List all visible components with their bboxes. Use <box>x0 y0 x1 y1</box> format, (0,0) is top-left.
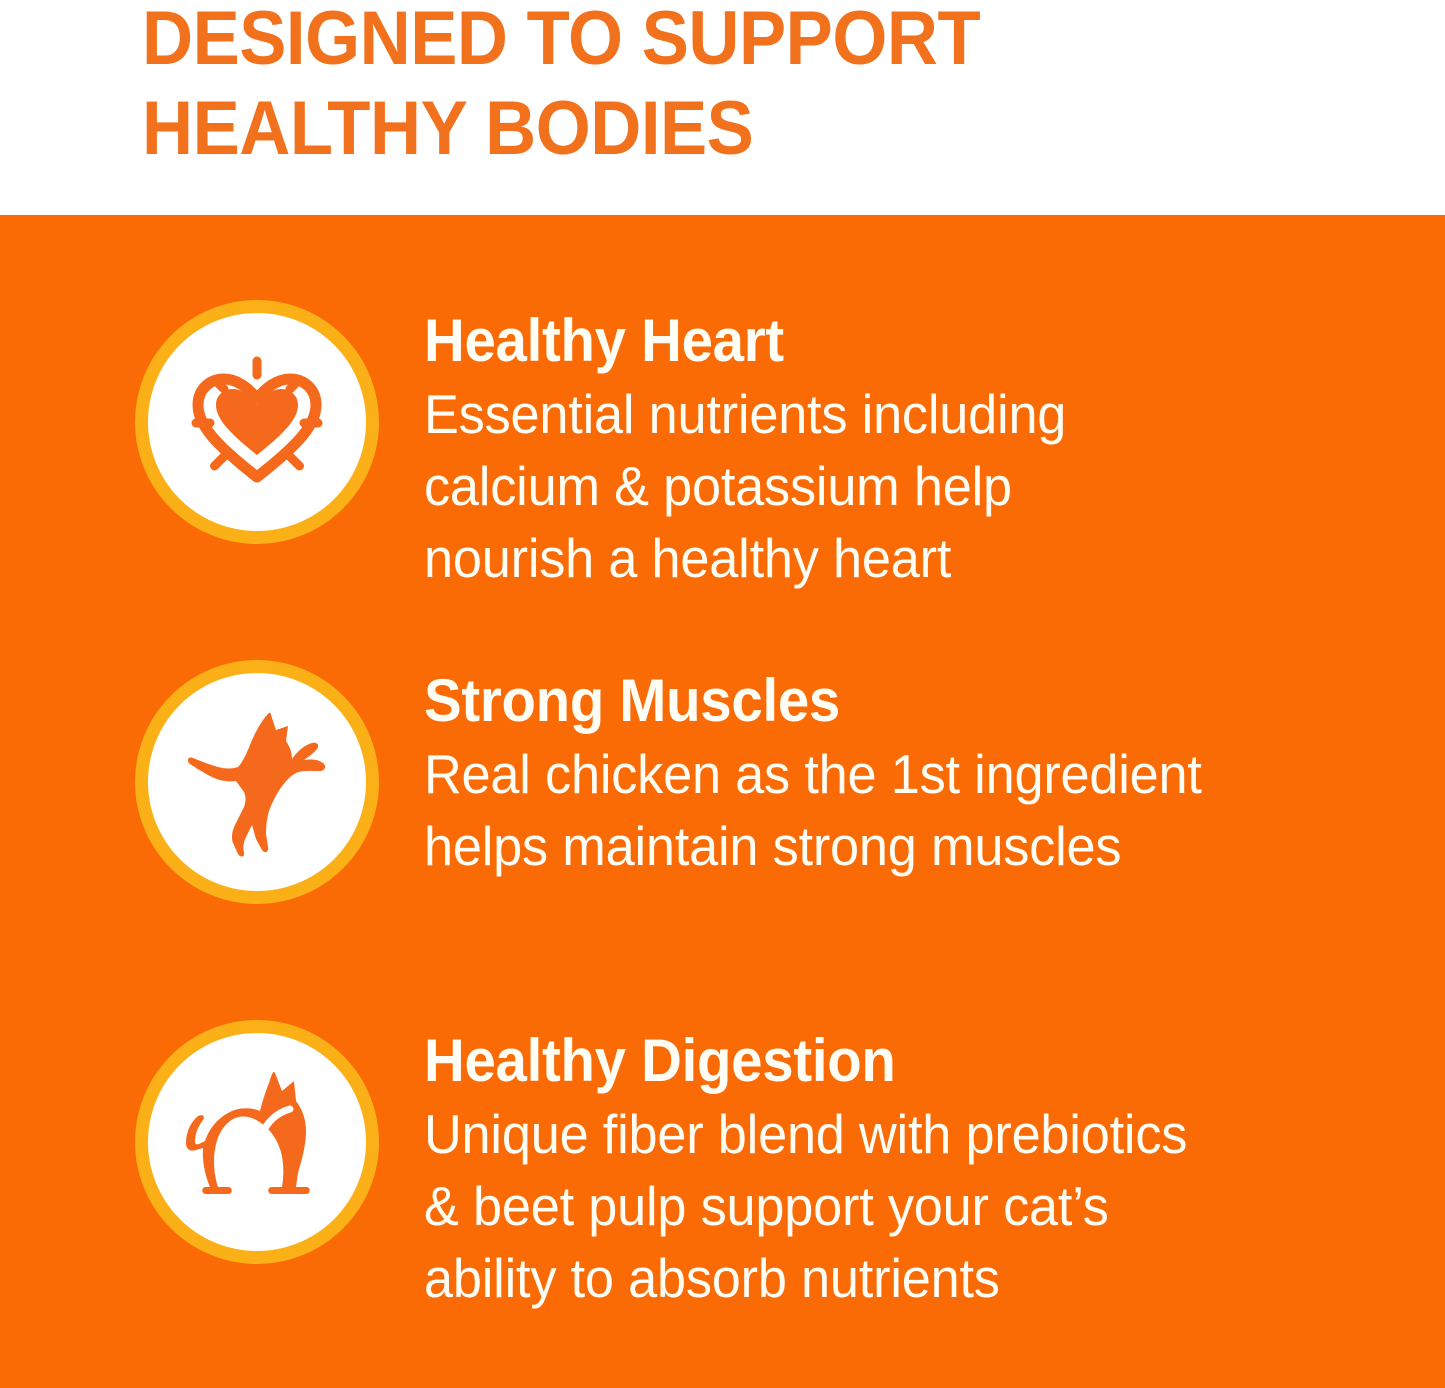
feature-title: Strong Muscles <box>424 668 1355 734</box>
badge-strong-muscles <box>135 660 379 904</box>
product-benefits-infographic: DESIGNED TO SUPPORT HEALTHY BODIES <box>0 0 1445 1388</box>
feature-description: Unique fiber blend with prebiotics & bee… <box>424 1098 1365 1314</box>
feature-description: Essential nutrients including calcium & … <box>424 378 1365 594</box>
feature-title: Healthy Digestion <box>424 1028 1355 1094</box>
header-band: DESIGNED TO SUPPORT HEALTHY BODIES <box>0 0 1445 215</box>
benefits-panel: Healthy Heart Essential nutrients includ… <box>0 215 1445 1388</box>
radiant-heart-icon <box>176 341 338 503</box>
feature-text-healthy-digestion: Healthy Digestion Unique fiber blend wit… <box>424 1028 1414 1314</box>
sitting-cat-digestion-icon <box>172 1057 342 1227</box>
badge-healthy-heart <box>135 300 379 544</box>
badge-healthy-digestion <box>135 1020 379 1264</box>
feature-text-strong-muscles: Strong Muscles Real chicken as the 1st i… <box>424 668 1414 882</box>
leaping-cat-icon <box>172 697 342 867</box>
feature-title: Healthy Heart <box>424 308 1355 374</box>
feature-description: Real chicken as the 1st ingredient helps… <box>424 738 1365 882</box>
page-title: DESIGNED TO SUPPORT HEALTHY BODIES <box>142 0 1165 174</box>
feature-text-healthy-heart: Healthy Heart Essential nutrients includ… <box>424 308 1414 594</box>
